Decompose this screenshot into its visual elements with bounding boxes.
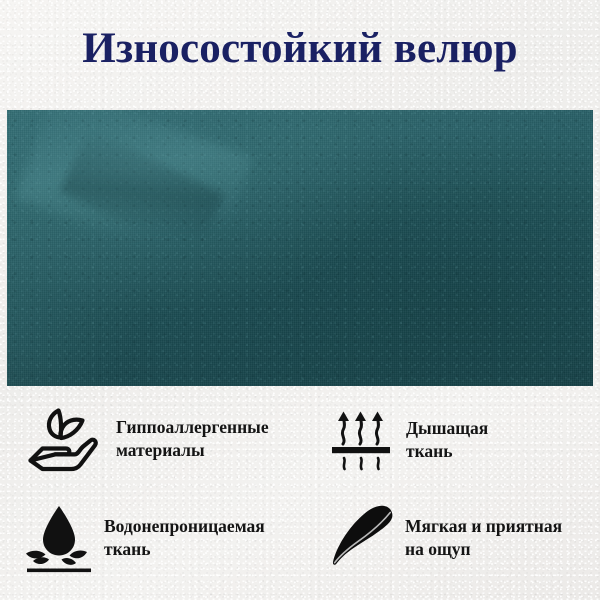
feature-label-line2: на ощуп: [405, 538, 562, 561]
product-poster: Износостойкий велюр: [0, 0, 600, 600]
fabric-vignette: [7, 110, 593, 386]
feature-hypoallergenic: Гиппоаллергенные материалы: [22, 404, 322, 474]
breathable-airflow-arrows-icon: [330, 408, 392, 472]
feature-list: Гиппоаллергенные материалы: [0, 398, 600, 598]
feature-label-line1: Водонепроницаемая: [104, 515, 265, 538]
feature-soft-touch-label: Мягкая и приятная на ощуп: [405, 515, 562, 561]
feature-breathable: Дышащая ткань: [330, 408, 595, 472]
hand-holding-leaves-icon: [22, 404, 100, 474]
feature-label-line1: Дышащая: [406, 417, 488, 440]
page-title: Износостойкий велюр: [0, 24, 600, 74]
title-area: Износостойкий велюр: [0, 24, 600, 74]
fabric-swatch-image: [7, 110, 593, 386]
feature-breathable-label: Дышащая ткань: [406, 417, 488, 463]
feather-icon: [325, 502, 401, 574]
feature-label-line2: ткань: [104, 538, 265, 561]
water-droplet-splash-icon: [24, 502, 94, 574]
feature-label-line1: Мягкая и приятная: [405, 515, 562, 538]
feature-label-line1: Гиппоаллергенные: [116, 416, 269, 439]
feature-waterproof: Водонепроницаемая ткань: [24, 502, 324, 574]
feature-waterproof-label: Водонепроницаемая ткань: [104, 515, 265, 561]
feature-soft-touch: Мягкая и приятная на ощуп: [325, 502, 600, 574]
feature-hypoallergenic-label: Гиппоаллергенные материалы: [116, 416, 269, 462]
feature-label-line2: ткань: [406, 440, 488, 463]
feature-label-line2: материалы: [116, 439, 269, 462]
